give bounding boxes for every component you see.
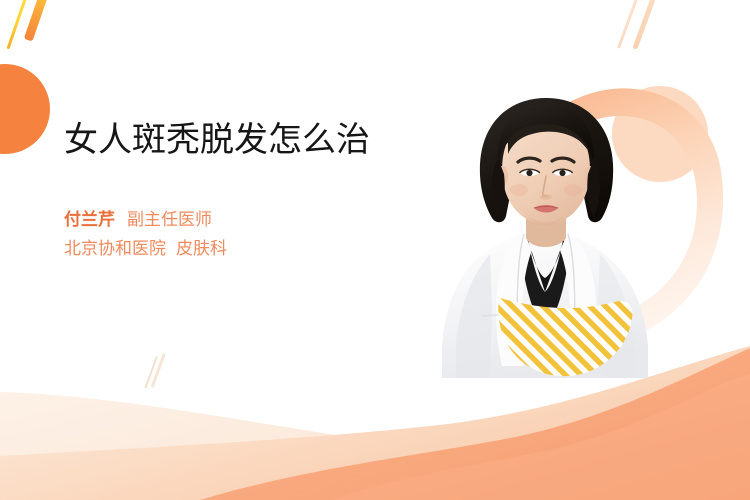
yellow-striped-blob-icon [498,296,634,378]
doctor-name-row: 付兰芹副主任医师 [64,205,424,234]
diagonal-stripe-peach-thick-icon [632,0,659,50]
doctor-hospital: 北京协和医院 [64,239,166,258]
page-title: 女人斑秃脱发怎么治 [64,118,424,163]
text-block: 女人斑秃脱发怎么治 付兰芹副主任医师 北京协和医院皮肤科 [64,118,424,263]
diagonal-stripe-orange-icon [24,0,53,42]
diagonal-stripe-peach-thin-icon [617,0,644,49]
diagonal-stripe-faint-c-icon [448,430,459,455]
promo-card: 女人斑秃脱发怎么治 付兰芹副主任医师 北京协和医院皮肤科 [0,0,750,500]
doctor-department: 皮肤科 [176,239,227,258]
doctor-byline: 付兰芹副主任医师 北京协和医院皮肤科 [64,205,424,263]
doctor-name: 付兰芹 [64,210,115,229]
diagonal-stripe-yellow-icon [7,0,31,49]
diagonal-stripe-faint-a-icon [144,356,158,389]
doctor-rank: 副主任医师 [127,210,212,229]
doctor-affiliation-row: 北京协和医院皮肤科 [64,234,424,263]
diagonal-stripe-faint-b-icon [151,353,166,388]
orange-circle-icon [0,64,50,154]
